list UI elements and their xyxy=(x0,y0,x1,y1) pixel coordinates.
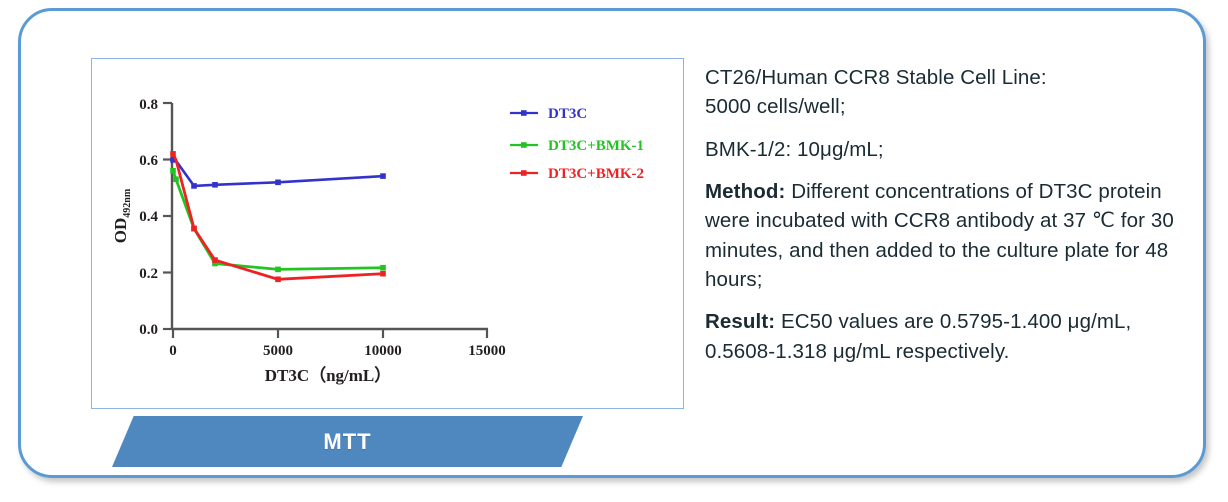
x-axis-tick-labels: 0 5000 10000 15000 xyxy=(169,343,506,359)
xtick-1: 5000 xyxy=(263,343,293,359)
series-dt3c xyxy=(170,157,386,189)
chart-panel: 0.8 0.6 0.4 0.2 0.0 0 5000 10000 15000 xyxy=(91,58,684,409)
cell-line-text-2: 5000 cells/well; xyxy=(705,95,846,118)
series-dt3c-markers xyxy=(170,157,386,189)
method-label: Method: xyxy=(705,180,785,203)
cell-line-text-1: CT26/Human CCR8 Stable Cell Line: xyxy=(705,66,1047,89)
xtick-0: 0 xyxy=(169,343,177,359)
ytick-1: 0.6 xyxy=(139,153,158,169)
legend-item-dt3c-bmk1: DT3C+BMK-1 xyxy=(510,138,644,154)
legend-label-dt3c-bmk1: DT3C+BMK-1 xyxy=(548,138,644,154)
ytick-2: 0.4 xyxy=(139,209,158,225)
series-dt3c-bmk2-markers xyxy=(170,151,386,282)
mtt-banner-label: MTT xyxy=(323,429,371,455)
x-axis-ticks xyxy=(173,329,487,338)
result-paragraph: Result: EC50 values are 0.5795-1.400 μg/… xyxy=(705,307,1179,366)
mtt-dose-response-chart: 0.8 0.6 0.4 0.2 0.0 0 5000 10000 15000 xyxy=(92,59,683,408)
x-axis-title: DT3C（ng/mL） xyxy=(265,365,392,385)
y-axis-tick-labels: 0.8 0.6 0.4 0.2 0.0 xyxy=(139,97,158,338)
xtick-3: 15000 xyxy=(468,343,506,359)
legend-item-dt3c: DT3C xyxy=(510,106,587,122)
outer-card-frame: 0.8 0.6 0.4 0.2 0.0 0 5000 10000 15000 xyxy=(18,8,1206,478)
ytick-0: 0.8 xyxy=(139,97,158,113)
xtick-2: 10000 xyxy=(364,343,402,359)
series-dt3c-bmk2-line xyxy=(173,154,383,279)
dose-text: BMK-1/2: 10μg/mL; xyxy=(705,138,884,161)
y-axis-title: OD492nm xyxy=(111,188,133,243)
result-label: Result: xyxy=(705,310,775,333)
ytick-3: 0.2 xyxy=(139,266,158,282)
chart-legend: DT3C DT3C+BMK-1 DT3C+BMK-2 xyxy=(510,106,644,182)
legend-label-dt3c: DT3C xyxy=(548,106,587,122)
dose-paragraph: BMK-1/2: 10μg/mL; xyxy=(705,135,1179,164)
legend-item-dt3c-bmk2: DT3C+BMK-2 xyxy=(510,166,644,182)
y-axis-ticks xyxy=(163,103,172,329)
legend-label-dt3c-bmk2: DT3C+BMK-2 xyxy=(548,166,644,182)
experiment-info-panel: CT26/Human CCR8 Stable Cell Line: 5000 c… xyxy=(705,63,1179,423)
mtt-assay-banner: MTT xyxy=(112,416,583,467)
cell-line-paragraph: CT26/Human CCR8 Stable Cell Line: 5000 c… xyxy=(705,63,1179,122)
series-dt3c-bmk2 xyxy=(170,151,386,282)
ytick-4: 0.0 xyxy=(139,322,158,338)
svg-text:OD492nm: OD492nm xyxy=(111,188,133,243)
y-axis-title-sub: 492nm xyxy=(122,188,133,218)
method-paragraph: Method: Different concentrations of DT3C… xyxy=(705,177,1179,294)
y-axis-title-main: OD xyxy=(111,218,130,244)
